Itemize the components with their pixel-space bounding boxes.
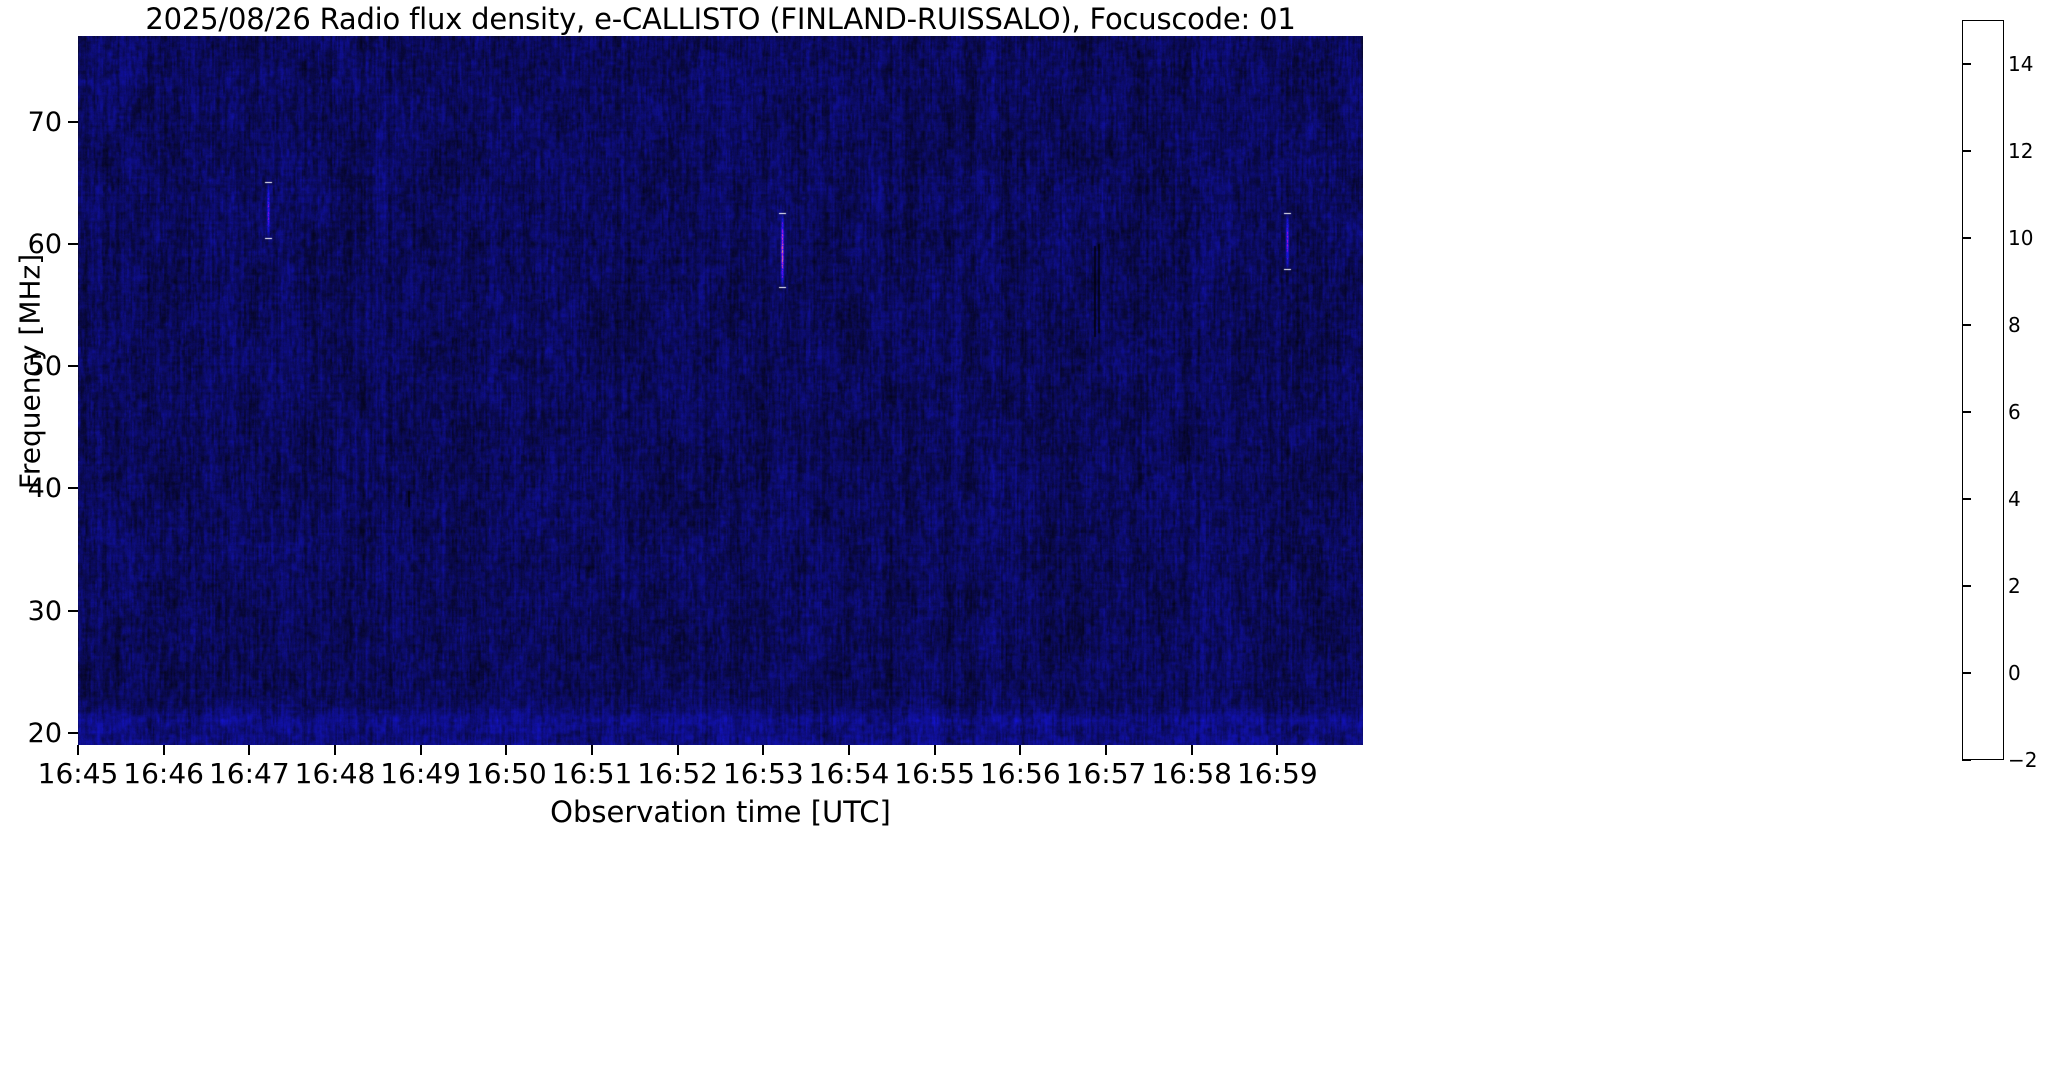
y-tick-mark xyxy=(68,243,78,245)
y-tick-mark xyxy=(68,365,78,367)
colorbar-tick-label: 10 xyxy=(2008,228,2042,248)
x-tick-mark xyxy=(334,745,336,755)
x-tick-mark xyxy=(163,745,165,755)
colorbar-tick-mark xyxy=(1962,411,1971,413)
colorbar-tick-mark xyxy=(1962,672,1971,674)
colorbar-tick-label: −2 xyxy=(2008,750,2042,770)
x-tick-mark xyxy=(762,745,764,755)
y-axis-tickmarks xyxy=(68,36,78,745)
y-tick-mark xyxy=(68,487,78,489)
colorbar-tick-label: 2 xyxy=(2008,576,2042,596)
x-tick-mark xyxy=(591,745,593,755)
x-tick-mark xyxy=(1019,745,1021,755)
page-title: 2025/08/26 Radio flux density, e-CALLIST… xyxy=(78,2,1363,36)
colorbar-tick-label: 12 xyxy=(2008,141,2042,161)
x-tick-mark xyxy=(1191,745,1193,755)
colorbar-tick-mark xyxy=(1962,237,1971,239)
colorbar-tick-label: 8 xyxy=(2008,315,2042,335)
x-axis-tickmarks xyxy=(78,745,1363,755)
y-tick-mark xyxy=(68,732,78,734)
colorbar-tick-label: 4 xyxy=(2008,489,2042,509)
x-tick-mark xyxy=(677,745,679,755)
colorbar-tickmarks xyxy=(1962,20,1974,760)
colorbar-tick-mark xyxy=(1962,324,1971,326)
y-tick-mark xyxy=(68,610,78,612)
x-axis-ticklabels: 16:4516:4616:4716:4816:4916:5016:5116:52… xyxy=(78,757,1363,797)
x-tick-mark xyxy=(77,745,79,755)
y-tick-mark xyxy=(68,121,78,123)
colorbar-tick-mark xyxy=(1962,150,1971,152)
x-tick-mark xyxy=(505,745,507,755)
colorbar-tick-mark xyxy=(1962,498,1971,500)
x-tick-label: 16:59 xyxy=(1197,757,1357,790)
y-axis-label: Frequency [MHz] xyxy=(14,12,47,732)
colorbar-tick-label: 14 xyxy=(2008,54,2042,74)
spectrogram-image xyxy=(78,36,1363,745)
x-tick-mark xyxy=(420,745,422,755)
x-tick-mark xyxy=(848,745,850,755)
colorbar-tick-label: 0 xyxy=(2008,663,2042,683)
x-tick-mark xyxy=(934,745,936,755)
colorbar-tick-label: 6 xyxy=(2008,402,2042,422)
x-tick-mark xyxy=(1105,745,1107,755)
colorbar-tick-mark xyxy=(1962,585,1971,587)
colorbar-tick-mark xyxy=(1962,759,1971,761)
x-tick-mark xyxy=(1276,745,1278,755)
colorbar-tick-mark xyxy=(1962,63,1971,65)
spectrogram-plot-area xyxy=(78,36,1363,745)
x-axis-label: Observation time [UTC] xyxy=(78,795,1363,829)
x-tick-mark xyxy=(248,745,250,755)
colorbar-ticklabels: 14121086420−2 xyxy=(2008,20,2042,760)
